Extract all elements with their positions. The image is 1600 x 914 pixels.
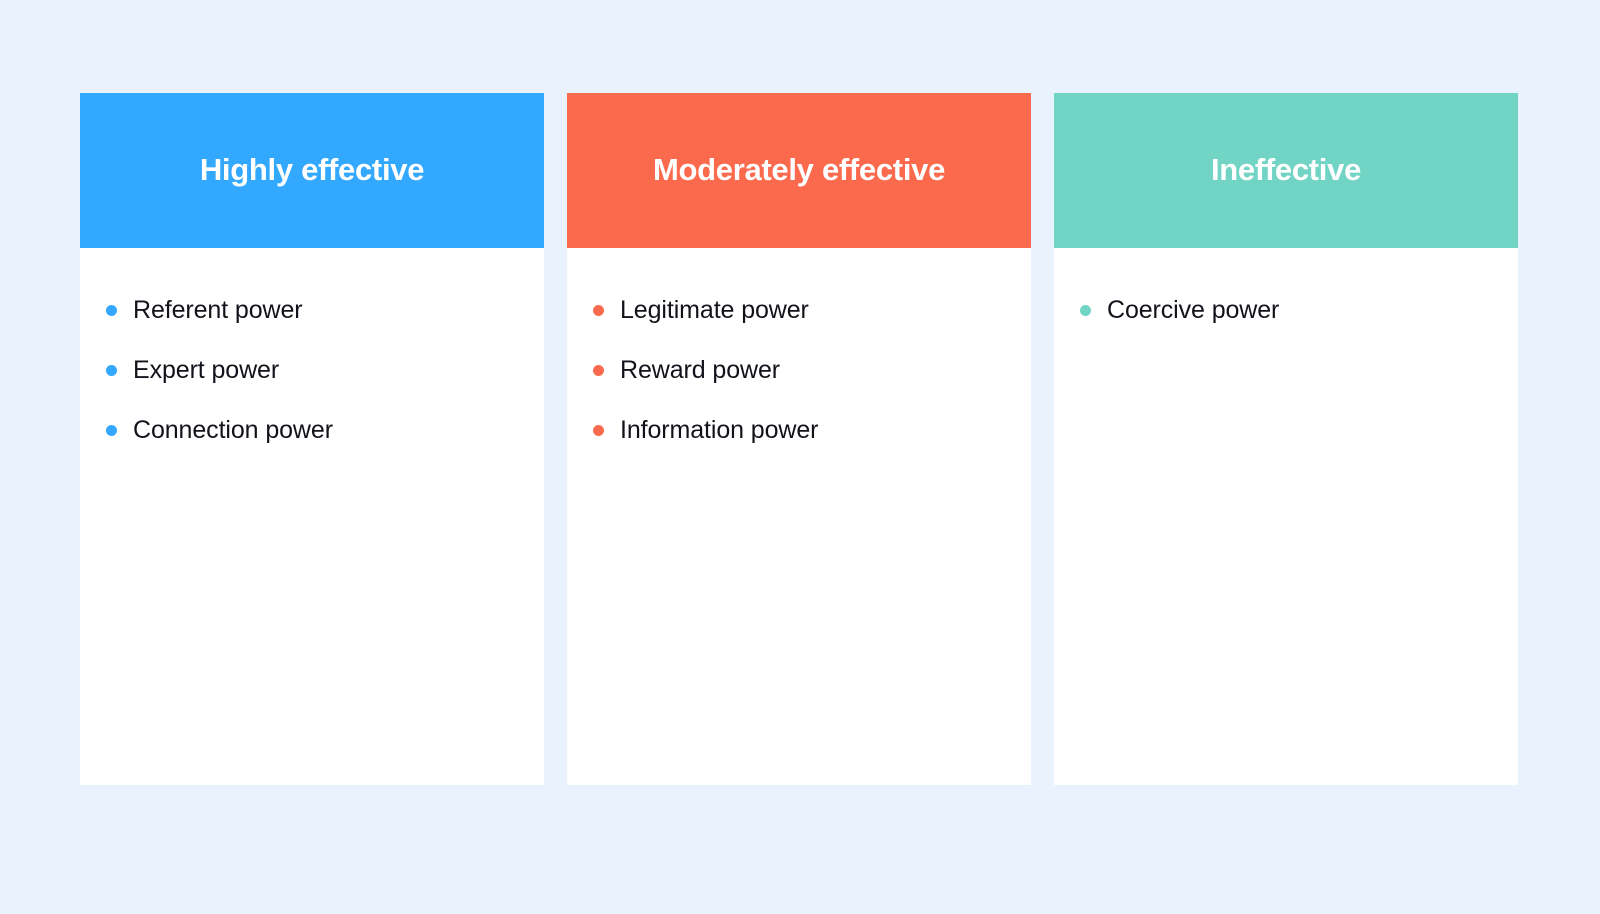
column-title-ineffective: Ineffective <box>1211 153 1361 187</box>
bullet-dot-icon <box>593 365 604 376</box>
bullet-dot-icon <box>1080 305 1091 316</box>
list-item: Expert power <box>106 340 518 400</box>
power-list-moderately-effective: Legitimate power Reward power Informatio… <box>593 280 1005 460</box>
list-item: Connection power <box>106 400 518 460</box>
list-item: Coercive power <box>1080 280 1492 340</box>
power-effectiveness-board: Highly effective Referent power Expert p… <box>80 93 1518 785</box>
list-item-label: Coercive power <box>1107 295 1279 325</box>
list-item-label: Referent power <box>133 295 303 325</box>
power-list-ineffective: Coercive power <box>1080 280 1492 340</box>
effectiveness-column-ineffective: Ineffective Coercive power <box>1054 93 1518 785</box>
list-item-label: Reward power <box>620 355 780 385</box>
bullet-dot-icon <box>106 425 117 436</box>
column-header-highly-effective: Highly effective <box>80 93 544 248</box>
list-item-label: Legitimate power <box>620 295 809 325</box>
power-list-highly-effective: Referent power Expert power Connection p… <box>106 280 518 460</box>
effectiveness-column-highly-effective: Highly effective Referent power Expert p… <box>80 93 544 785</box>
bullet-dot-icon <box>593 305 604 316</box>
list-item: Referent power <box>106 280 518 340</box>
effectiveness-column-moderately-effective: Moderately effective Legitimate power Re… <box>567 93 1031 785</box>
list-item: Reward power <box>593 340 1005 400</box>
list-item-label: Connection power <box>133 415 333 445</box>
list-item: Legitimate power <box>593 280 1005 340</box>
bullet-dot-icon <box>106 365 117 376</box>
column-title-moderately-effective: Moderately effective <box>653 153 945 187</box>
column-header-ineffective: Ineffective <box>1054 93 1518 248</box>
list-item-label: Expert power <box>133 355 279 385</box>
column-body-highly-effective: Referent power Expert power Connection p… <box>80 248 544 785</box>
list-item-label: Information power <box>620 415 818 445</box>
column-title-highly-effective: Highly effective <box>200 153 424 187</box>
column-header-moderately-effective: Moderately effective <box>567 93 1031 248</box>
column-body-moderately-effective: Legitimate power Reward power Informatio… <box>567 248 1031 785</box>
column-body-ineffective: Coercive power <box>1054 248 1518 785</box>
bullet-dot-icon <box>106 305 117 316</box>
bullet-dot-icon <box>593 425 604 436</box>
list-item: Information power <box>593 400 1005 460</box>
